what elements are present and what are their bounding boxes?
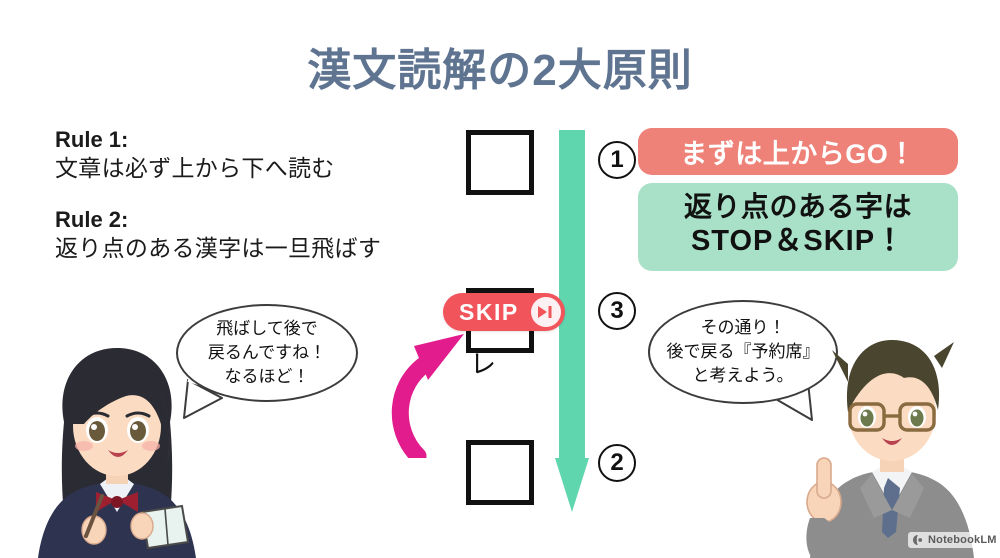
rule-1-text: 文章は必ず上から下へ読む [55, 154, 455, 184]
rule-item-1: Rule 1: 文章は必ず上から下へ読む [55, 126, 455, 184]
banner-stop-line1: 返り点のある字は [638, 190, 958, 224]
teacher-boy-illustration [788, 312, 988, 558]
skip-forward-icon [531, 297, 561, 327]
banner-stop-skip: 返り点のある字は STOP＆SKIP！ [638, 183, 958, 271]
skip-badge-label: SKIP [459, 299, 531, 326]
banner-go: まずは上からGO！ [638, 128, 958, 175]
rule-item-2: Rule 2: 返り点のある漢字は一旦飛ばす [55, 206, 455, 264]
student-bubble-line2: 戻るんですね！ [208, 341, 326, 365]
skip-badge[interactable]: SKIP [443, 293, 565, 331]
step-number-2: 2 [598, 444, 636, 482]
notebooklm-watermark: NotebookLM [908, 532, 1000, 548]
rule-2-label: Rule 2: [55, 206, 455, 234]
rule-1-label: Rule 1: [55, 126, 455, 154]
notebooklm-logo-icon [912, 534, 924, 546]
slide-canvas: 漢文読解の2大原則 Rule 1: 文章は必ず上から下へ読む Rule 2: 返… [0, 0, 1000, 558]
rules-list: Rule 1: 文章は必ず上から下へ読む Rule 2: 返り点のある漢字は一旦… [55, 126, 455, 286]
student-bubble-line1: 飛ばして後で [208, 317, 326, 341]
student-girl-illustration [22, 326, 212, 558]
step-number-1: 1 [598, 141, 636, 179]
rule-2-text: 返り点のある漢字は一旦飛ばす [55, 234, 455, 264]
curved-return-arrow-icon [388, 318, 498, 458]
kanji-box-top [466, 130, 534, 195]
watermark-text: NotebookLM [928, 534, 997, 546]
banner-stop-line2: STOP＆SKIP！ [638, 224, 958, 259]
student-bubble-line3: なるほど！ [208, 365, 326, 389]
page-title: 漢文読解の2大原則 [0, 34, 1000, 98]
step-number-3: 3 [598, 292, 636, 330]
